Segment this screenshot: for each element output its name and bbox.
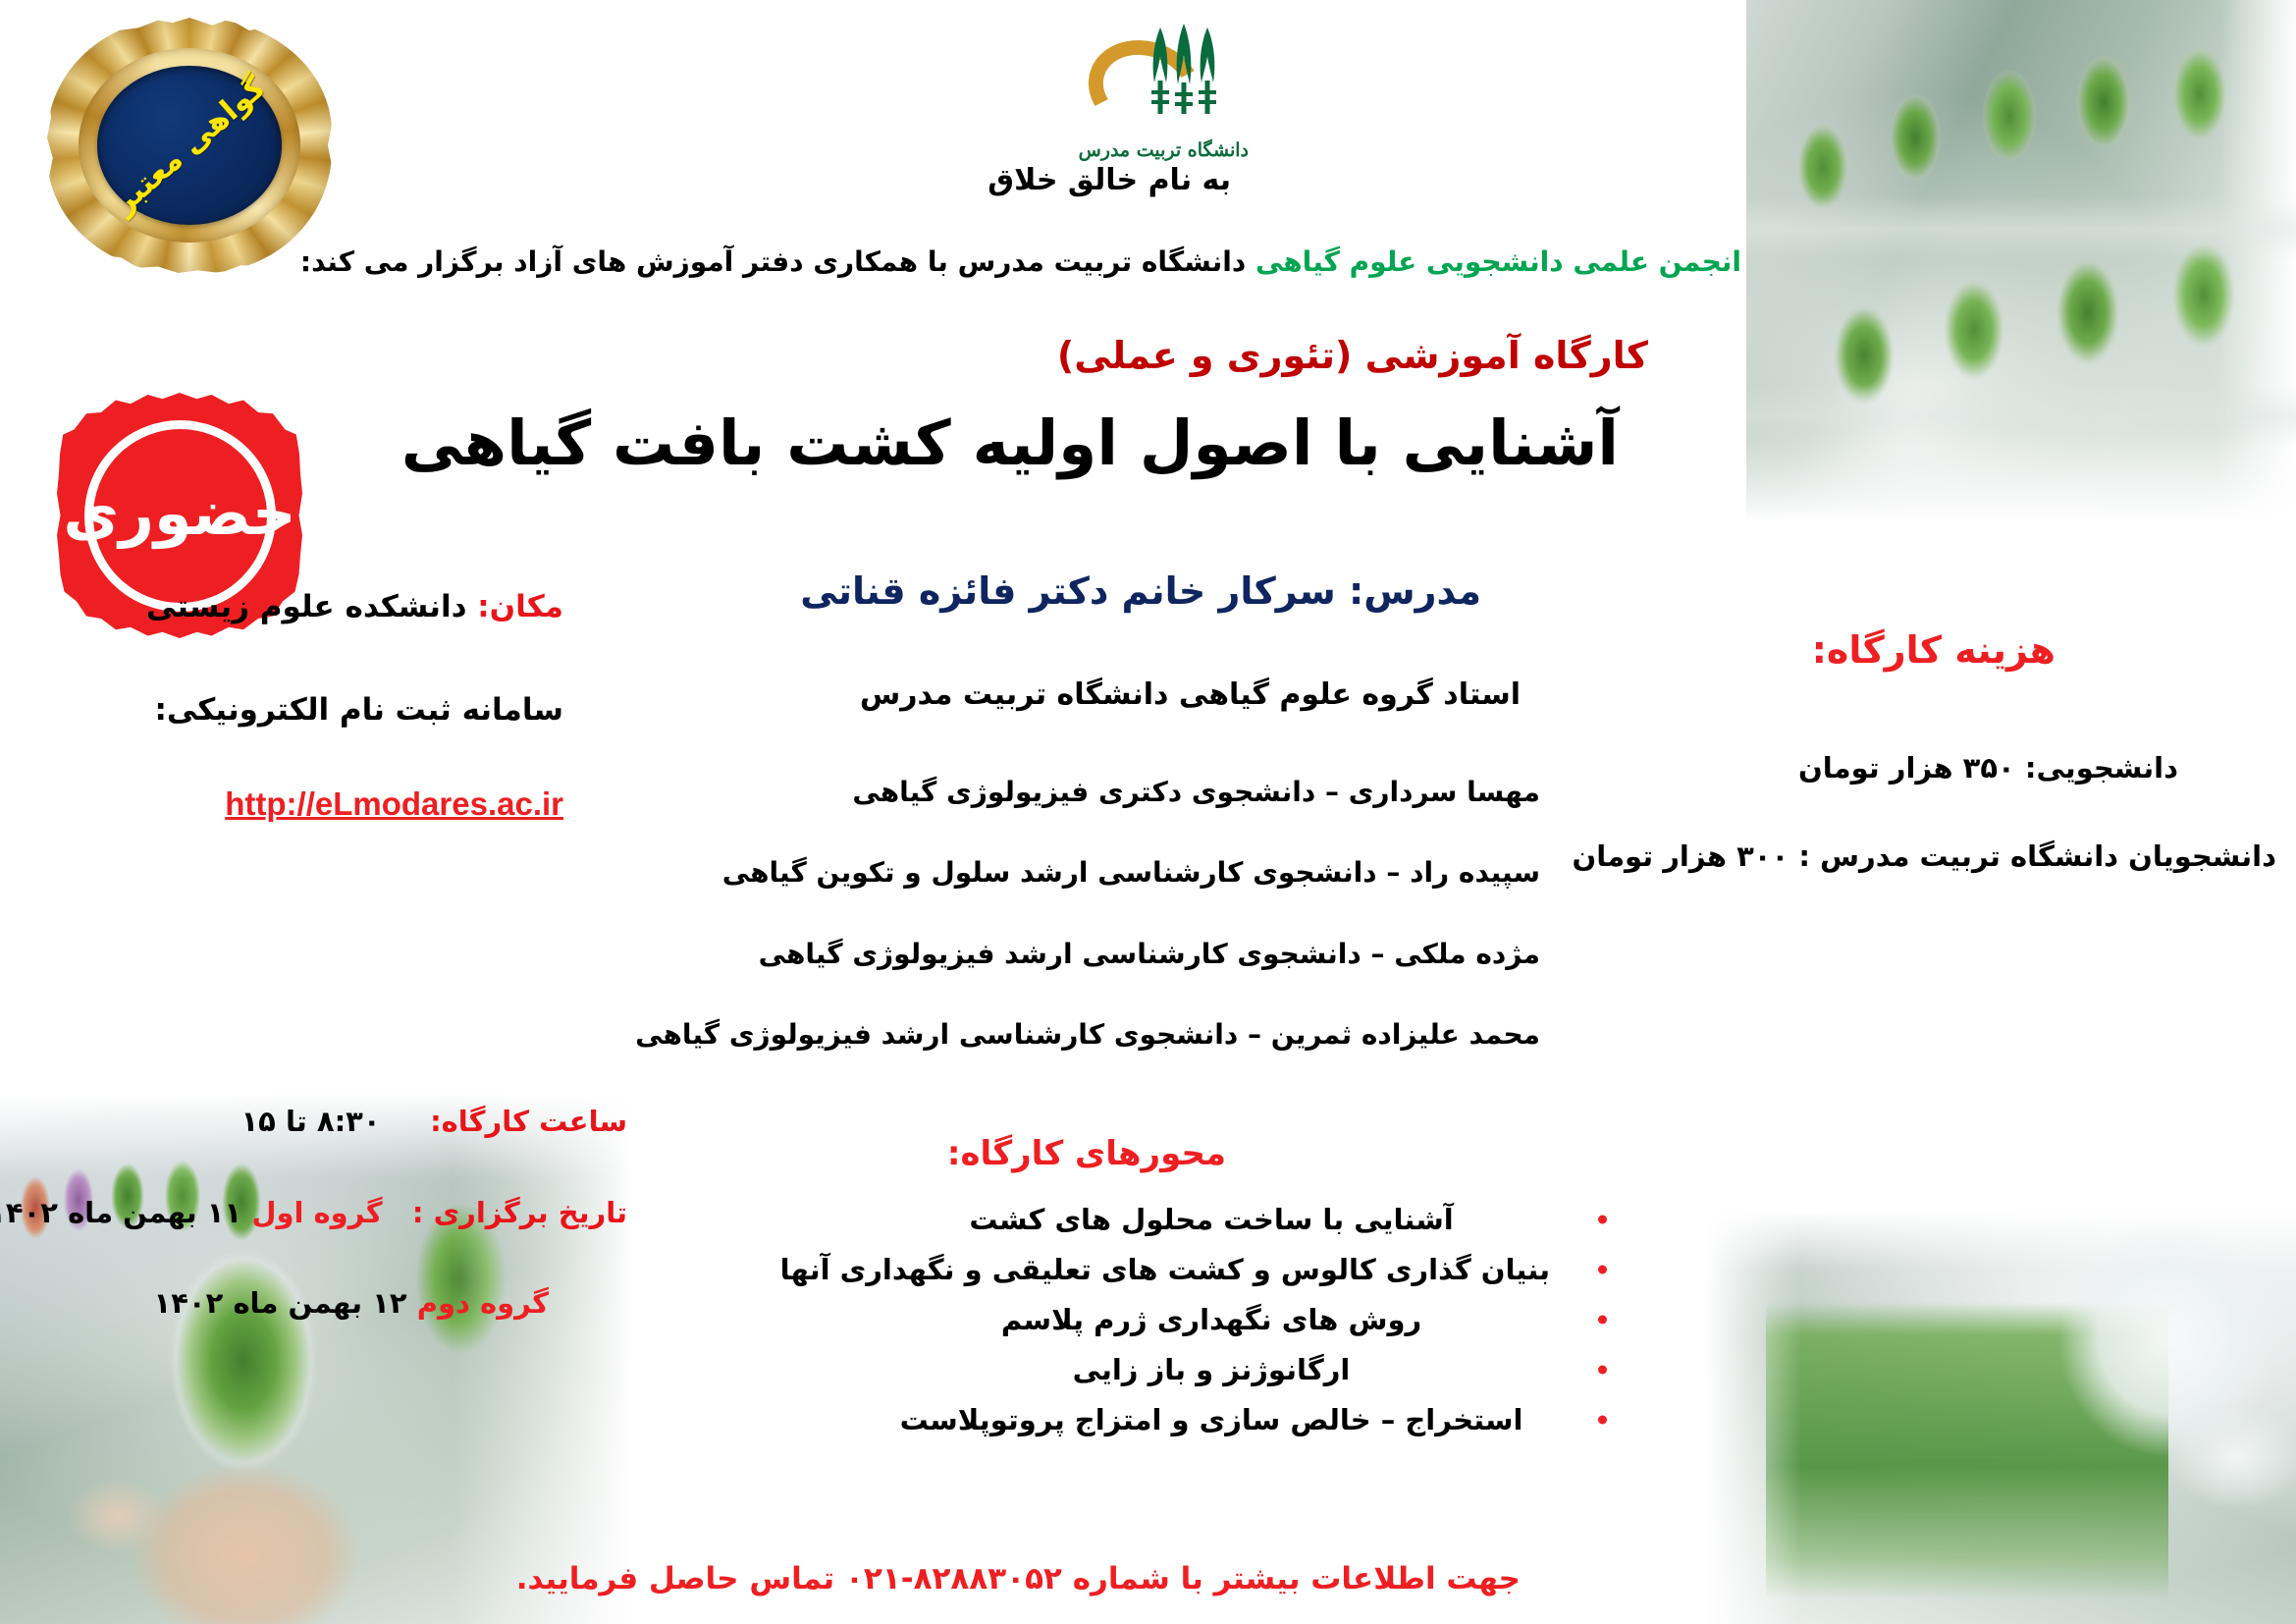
bullet-icon bbox=[1598, 1266, 1607, 1274]
topic-label: آشنایی با ساخت محلول های کشت bbox=[969, 1203, 1453, 1236]
bullet-icon bbox=[1598, 1316, 1607, 1325]
group1-label: گروه اول bbox=[251, 1196, 382, 1229]
workshop-time-value: ۸:۳۰ تا ۱۵ bbox=[240, 1105, 380, 1138]
venue-line: مکان: دانشکده علوم زیستی bbox=[146, 589, 563, 624]
instructor-label: مدرس: bbox=[1349, 569, 1481, 613]
photo-tissue-culture-jars-top-right bbox=[1746, 0, 2296, 520]
organizer-association-name: انجمن علمی دانشجویی علوم گیاهی bbox=[1255, 245, 1741, 278]
photo-gloved-hand-test-tubes-bottom-right bbox=[1707, 1212, 2296, 1624]
topic-label: بنیان گذاری کالوس و کشت های تعلیقی و نگه… bbox=[780, 1253, 1550, 1286]
workshop-time-line: ساعت کارگاه: ۸:۳۰ تا ۱۵ bbox=[240, 1105, 627, 1138]
bismillah-text: به نام خالق خلاق bbox=[988, 163, 1231, 197]
assistant-row: محمد علیزاده ثمرین – دانشجوی کارشناسی ار… bbox=[635, 1018, 1540, 1051]
page-title: آشنایی با اصول اولیه کشت بافت گیاهی bbox=[401, 407, 1619, 479]
topic-list-item: آشنایی با ساخت محلول های کشت bbox=[873, 1203, 1550, 1236]
topics-list: آشنایی با ساخت محلول های کشت بنیان گذاری… bbox=[873, 1203, 1550, 1453]
bullet-icon bbox=[1598, 1366, 1607, 1375]
group2-label: گروه دوم bbox=[417, 1286, 549, 1320]
registration-url-link[interactable]: http://eLmodares.ac.ir bbox=[225, 785, 563, 823]
photo-hand-holding-culture-jar-bottom-left bbox=[0, 1094, 628, 1624]
certificate-seal-badge: گواهی معتبر bbox=[47, 18, 332, 273]
instructor-line: مدرس: سرکار خانم دکتر فائزه قناتی bbox=[800, 569, 1481, 613]
venue-value: دانشکده علوم زیستی bbox=[146, 589, 477, 624]
topics-heading: محورهای کارگاه: bbox=[947, 1134, 1226, 1173]
topic-list-item: روش های نگهداری ژرم پلاسم bbox=[873, 1303, 1550, 1336]
tarbiat-modares-university-logo: دانشگاه تربیت مدرس bbox=[1082, 20, 1249, 159]
organizer-line: انجمن علمی دانشجویی علوم گیاهی دانشگاه ت… bbox=[300, 245, 1741, 278]
logo-wheat-spikes-icon bbox=[1137, 22, 1231, 132]
workshop-time-label: ساعت کارگاه: bbox=[430, 1105, 627, 1138]
contact-information: جهت اطلاعات بیشتر با شماره ۸۲۸۸۳۰۵۲-۰۲۱ … bbox=[516, 1561, 1521, 1597]
group1-date: ۱۱ بهمن ماه ۱۴۰۲ bbox=[0, 1196, 241, 1229]
workshop-date-line-group2: گروه دوم ۱۲ بهمن ماه ۱۴۰۲ bbox=[154, 1286, 549, 1320]
topic-list-item: استخراج – خالص سازی و امتزاج پروتوپلاست bbox=[873, 1403, 1550, 1436]
group2-date: ۱۲ بهمن ماه ۱۴۰۲ bbox=[154, 1286, 407, 1320]
bullet-icon bbox=[1598, 1416, 1607, 1425]
assistant-row: مژده ملکی – دانشجوی کارشناسی ارشد فیزیول… bbox=[759, 938, 1540, 970]
venue-label: مکان: bbox=[477, 589, 563, 624]
topic-label: روش های نگهداری ژرم پلاسم bbox=[1001, 1303, 1421, 1336]
topic-list-item: بنیان گذاری کالوس و کشت های تعلیقی و نگه… bbox=[873, 1253, 1550, 1286]
bullet-icon bbox=[1598, 1216, 1607, 1224]
instructor-affiliation: استاد گروه علوم گیاهی دانشگاه تربیت مدرس bbox=[860, 677, 1521, 712]
topic-label: ارگانوژنز و باز زایی bbox=[1073, 1353, 1351, 1386]
instructor-name: سرکار خانم دکتر فائزه قناتی bbox=[800, 569, 1349, 613]
fees-heading: هزینه کارگاه: bbox=[1812, 628, 2056, 672]
fee-row: دانشجویی: ۳۵۰ هزار تومان bbox=[1798, 751, 2178, 785]
topic-label: استخراج – خالص سازی و امتزاج پروتوپلاست bbox=[900, 1403, 1523, 1436]
workshop-type-subtitle: کارگاه آموزشی (تئوری و عملی) bbox=[1057, 334, 1648, 377]
assistant-row: سپیده راد – دانشجوی کارشناسی ارشد سلول و… bbox=[722, 856, 1540, 889]
certificate-seal-label: گواهی معتبر bbox=[0, 0, 381, 335]
assistant-row: مهسا سرداری – دانشجوی دکتری فیزیولوژی گی… bbox=[852, 776, 1540, 808]
workshop-date-line-group1: تاریخ برگزاری : گروه اول ۱۱ بهمن ماه ۱۴۰… bbox=[0, 1196, 627, 1229]
poster-canvas: گواهی معتبر حضوری bbox=[0, 0, 2296, 1624]
logo-wordmark: دانشگاه تربیت مدرس bbox=[1082, 139, 1249, 161]
topic-list-item: ارگانوژنز و باز زایی bbox=[873, 1353, 1550, 1386]
workshop-date-label: تاریخ برگزاری : bbox=[412, 1196, 627, 1229]
organizer-line-rest: دانشگاه تربیت مدرس با همکاری دفتر آموزش … bbox=[300, 245, 1255, 278]
registration-system-label: سامانه ثبت نام الکترونیکی: bbox=[155, 692, 563, 728]
fee-row: دانشجویان دانشگاه تربیت مدرس : ۳۰۰ هزار … bbox=[1572, 839, 2276, 873]
